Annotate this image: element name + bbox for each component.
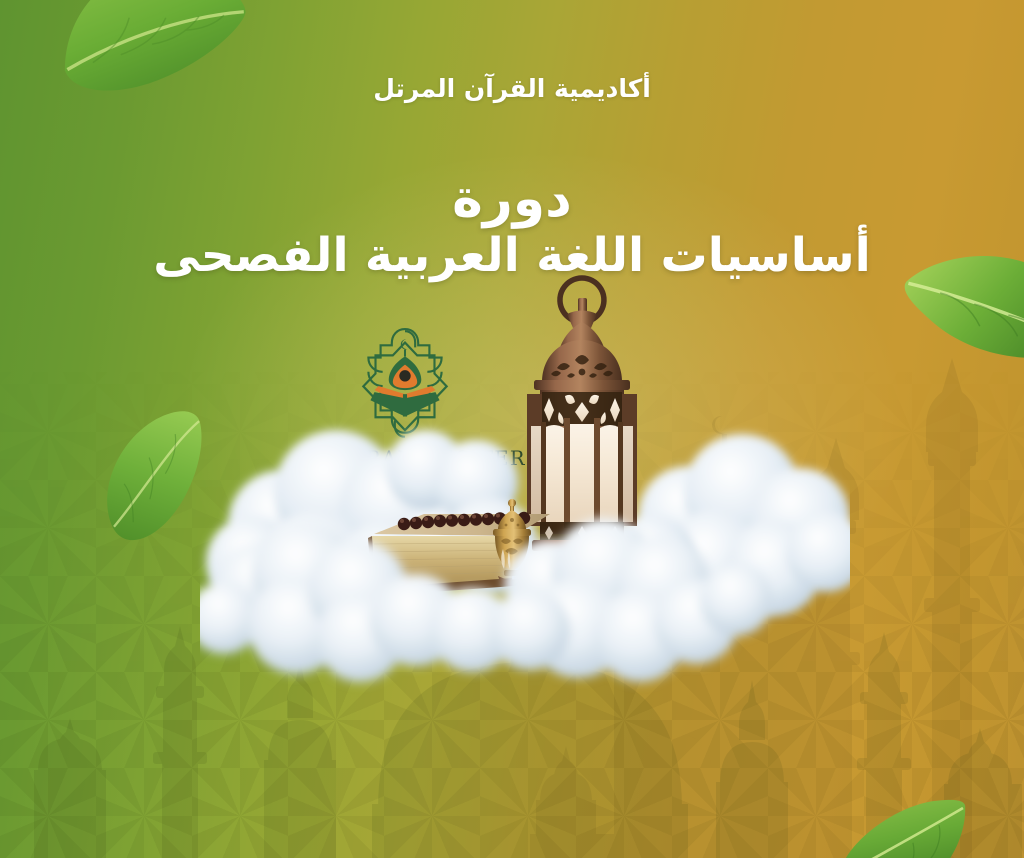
poster-text-block: أكاديمية القرآن المرتل دورة أساسيات اللغ… [0, 74, 1024, 283]
academy-logo: QURAN RECITER ACADEMY [331, 323, 479, 484]
leaf-icon-bottom-right [806, 746, 1024, 858]
prayer-beads-icon [398, 512, 530, 530]
leaf-icon-left [59, 379, 254, 574]
course-title: أساسيات اللغة العربية الفصحى [0, 229, 1024, 283]
center-glow [184, 154, 901, 686]
cloud-icon-front [200, 470, 840, 700]
logo-subtitle-text: ACADEMY [331, 471, 479, 484]
mosque-silhouette-icon-back [0, 298, 1024, 858]
logo-name-text: QURAN RECITER [331, 447, 479, 470]
closed-book-icon [362, 498, 562, 608]
islamic-geometric-pattern [0, 0, 1024, 858]
ramadan-lantern-icon [487, 272, 677, 572]
course-word: دورة [0, 172, 1024, 227]
leaf-icon-top-left [22, 0, 268, 160]
incense-burner-icon [481, 497, 543, 591]
quran-book-dome-crescent-emblem-icon [344, 323, 466, 445]
poster-canvas: أكاديمية القرآن المرتل دورة أساسيات اللغ… [0, 0, 1024, 858]
centerpiece-stage [0, 0, 1024, 858]
mosque-silhouette-icon-front [0, 558, 1024, 858]
leaf-icon-right [886, 202, 1024, 432]
cloud-icon-back [190, 396, 850, 696]
academy-brand-line: أكاديمية القرآن المرتل [0, 74, 1024, 104]
